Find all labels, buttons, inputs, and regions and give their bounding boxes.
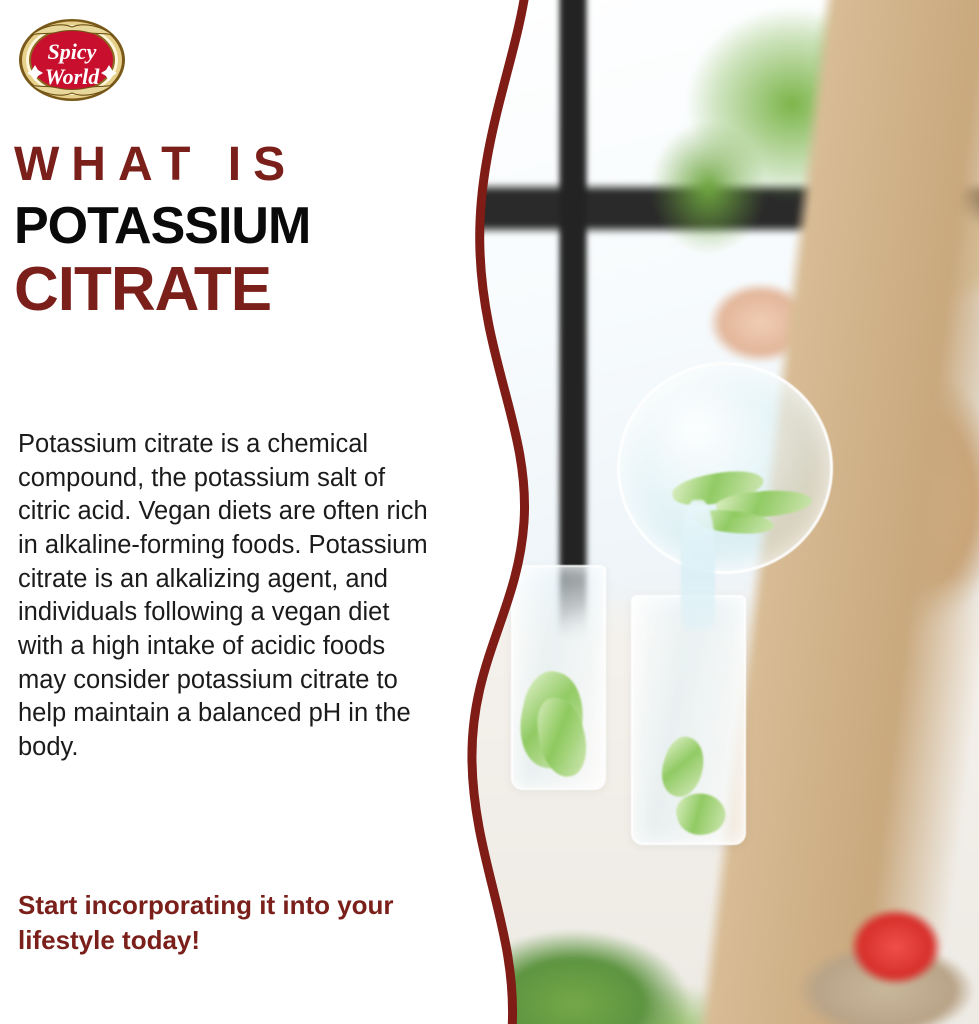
spicy-world-logo[interactable]: Spicy World bbox=[16, 16, 128, 104]
mason-jar-left-icon bbox=[511, 565, 606, 790]
mason-jar-right-icon bbox=[631, 595, 746, 845]
logo-text-line2: World bbox=[45, 64, 101, 89]
headline-line-citrate: CITRATE bbox=[14, 257, 454, 322]
poster-canvas: Spicy World WHAT IS POTASSIUM CITRATE Po… bbox=[0, 0, 979, 1024]
logo-text-line1: Spicy bbox=[48, 39, 97, 64]
headline-block: WHAT IS POTASSIUM CITRATE bbox=[14, 140, 454, 322]
content-column: Spicy World WHAT IS POTASSIUM CITRATE Po… bbox=[0, 0, 470, 1024]
body-paragraph: Potassium citrate is a chemical compound… bbox=[18, 428, 428, 765]
headline-line-potassium: POTASSIUM bbox=[14, 198, 454, 254]
cucumber-slice-icon bbox=[654, 732, 712, 802]
product-photo-panel bbox=[459, 0, 979, 1024]
water-pour-stream bbox=[681, 500, 715, 630]
glass-pitcher-icon bbox=[617, 362, 833, 574]
headline-line-what-is: WHAT IS bbox=[14, 140, 454, 190]
call-to-action-text: Start incorporating it into your lifesty… bbox=[18, 888, 458, 958]
